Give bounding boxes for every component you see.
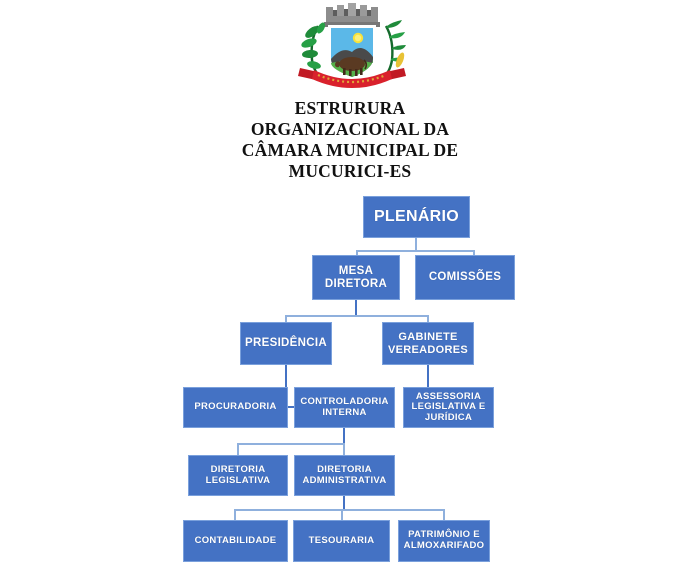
node-gabinete-vereadores[interactable]: GABINETE VEREADORES [382, 322, 474, 365]
connector-level6-bus [234, 509, 444, 511]
node-contabilidade-label: CONTABILIDADE [187, 536, 284, 547]
connector-to-tesouraria [341, 509, 343, 520]
node-controladoria-interna[interactable]: CONTROLADORIA INTERNA [294, 387, 395, 428]
node-gabinete-vereadores-label-1: GABINETE [386, 331, 470, 343]
node-patrimonio-label-2: ALMOXARIFADO [402, 541, 486, 552]
node-mesa-diretora-label-1: MESA [316, 265, 396, 278]
node-mesa-diretora-label-2: DIRETORA [316, 278, 396, 291]
node-gabinete-vereadores-label-2: VEREADORES [386, 344, 470, 356]
node-comissoes[interactable]: COMISSÕES [415, 255, 515, 300]
node-diretoria-legislativa-label-2: LEGISLATIVA [192, 476, 284, 487]
node-presidencia[interactable]: PRESIDÊNCIA [240, 322, 332, 365]
node-diretoria-administrativa-label-1: DIRETORIA [298, 465, 391, 476]
node-contabilidade[interactable]: CONTABILIDADE [183, 520, 288, 562]
connector-diretoria-admin-stem [343, 496, 345, 510]
node-assessoria-label-3: JURÍDICA [407, 413, 490, 424]
node-tesouraria-label: TESOURARIA [297, 536, 386, 547]
node-diretoria-administrativa-label-2: ADMINISTRATIVA [298, 476, 391, 487]
connector-to-diretoria-administrativa [343, 443, 345, 455]
org-chart: PLENÁRIO MESA DIRETORA COMISSÕES PRESIDÊ… [0, 0, 700, 583]
connector-level3-bus [285, 315, 429, 317]
node-tesouraria[interactable]: TESOURARIA [293, 520, 390, 562]
connector-mesa-stem [355, 300, 357, 316]
node-controladoria-interna-label-2: INTERNA [298, 408, 391, 419]
node-presidencia-label: PRESIDÊNCIA [244, 337, 328, 350]
node-comissoes-label: COMISSÕES [419, 271, 511, 284]
connector-to-patrimonio [443, 509, 445, 520]
connector-controladoria-stem [343, 428, 345, 444]
connector-to-contabilidade [234, 509, 236, 520]
node-diretoria-administrativa[interactable]: DIRETORIA ADMINISTRATIVA [294, 455, 395, 496]
node-procuradoria[interactable]: PROCURADORIA [183, 387, 288, 428]
node-assessoria-legislativa-juridica[interactable]: ASSESSORIA LEGISLATIVA E JURÍDICA [403, 387, 494, 428]
connector-level2-bus [356, 250, 475, 252]
node-diretoria-legislativa[interactable]: DIRETORIA LEGISLATIVA [188, 455, 288, 496]
connector-presidencia-stem [285, 365, 287, 388]
node-plenario[interactable]: PLENÁRIO [363, 196, 470, 238]
connector-to-diretoria-legislativa [237, 443, 239, 455]
connector-level5-bus [237, 443, 344, 445]
node-patrimonio-almoxarifado[interactable]: PATRIMÔNIO E ALMOXARIFADO [398, 520, 490, 562]
node-mesa-diretora[interactable]: MESA DIRETORA [312, 255, 400, 300]
node-plenario-label: PLENÁRIO [367, 208, 466, 226]
node-diretoria-legislativa-label-1: DIRETORIA [192, 465, 284, 476]
node-procuradoria-label: PROCURADORIA [187, 402, 284, 413]
node-controladoria-interna-label-1: CONTROLADORIA [298, 397, 391, 408]
